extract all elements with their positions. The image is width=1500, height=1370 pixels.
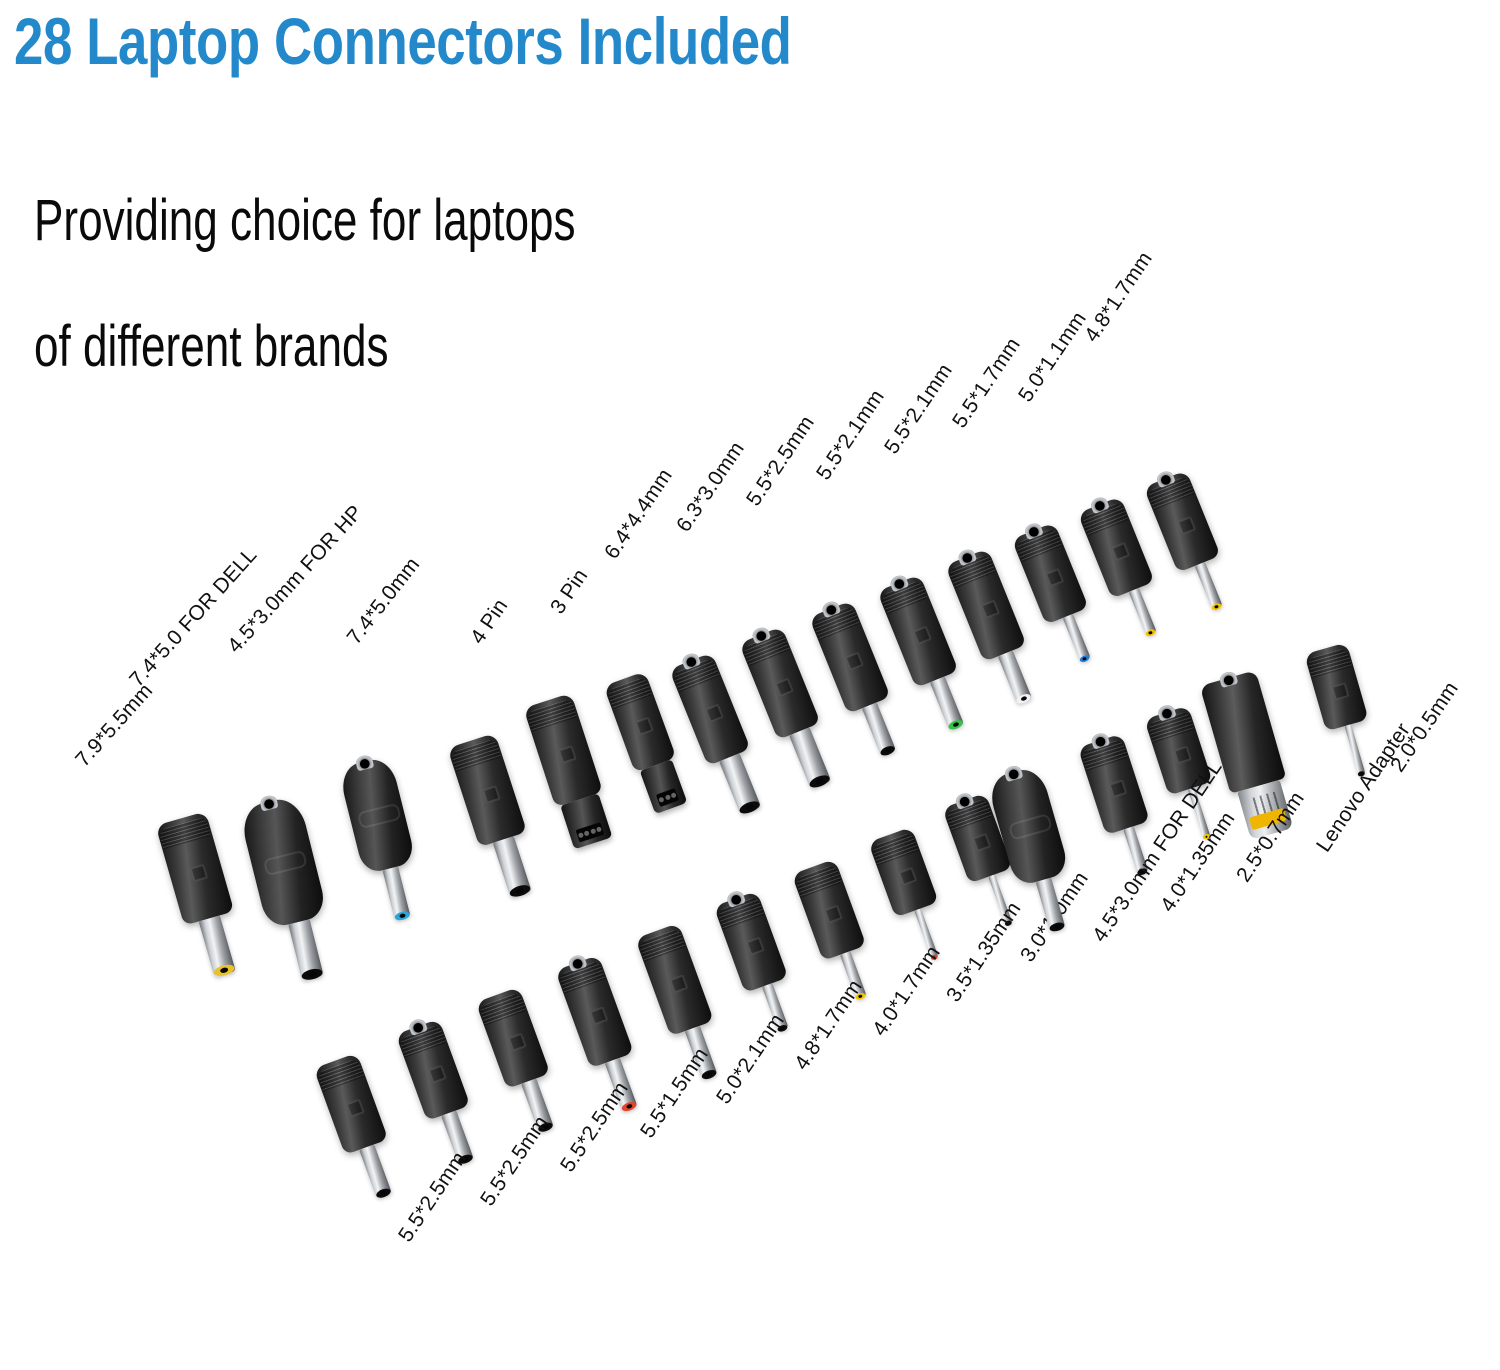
connector-top-6	[1012, 522, 1089, 625]
socket-opening	[956, 547, 977, 566]
connector-barrel	[447, 733, 527, 847]
connector-pin	[289, 919, 324, 981]
pin-tip	[1211, 602, 1223, 611]
connector-top-8	[1144, 470, 1221, 573]
subtitle-line-2: of different brands	[34, 318, 389, 376]
connector-top-3	[809, 600, 891, 714]
pin-tip	[947, 718, 964, 731]
connector-barrel	[1078, 733, 1150, 835]
connector-bottom-7	[792, 859, 867, 961]
connector-bottom-3	[476, 987, 551, 1089]
socket-opening	[1003, 764, 1023, 782]
socket-opening	[354, 754, 374, 772]
connector-label-top-6: 5.5*1.7mm	[948, 334, 1026, 433]
product-infographic: 28 Laptop Connectors Included Providing …	[0, 0, 1500, 1370]
connector-pin	[199, 915, 236, 977]
emboss-mark	[1008, 813, 1053, 841]
emboss-mark	[263, 849, 308, 876]
connector-label-top-4: 5.5*2.1mm	[812, 386, 890, 485]
connector-barrel	[739, 626, 821, 740]
connector-left-4	[447, 733, 527, 847]
connector-pin	[1128, 588, 1156, 637]
pin-tip	[508, 883, 531, 899]
pin-tip	[1145, 628, 1157, 637]
connector-label-left-1: 7.9*5.5mm	[71, 679, 158, 772]
connector-pin	[998, 650, 1032, 704]
connector-pin	[789, 727, 831, 789]
page-title: 28 Laptop Connectors Included	[14, 8, 792, 74]
pin-tip	[738, 799, 761, 816]
connector-barrel	[945, 548, 1027, 662]
connector-label-bottom-1: 5.5*2.5mm	[394, 1148, 472, 1247]
pin-face	[560, 793, 612, 849]
connector-pin	[1194, 562, 1222, 611]
connector-right-5	[1304, 642, 1368, 731]
connector-label-left-6: 3 Pin	[546, 565, 593, 619]
connector-pin	[493, 836, 532, 898]
connector-label-top-2: 6.3*3.0mm	[672, 438, 750, 537]
socket-opening	[750, 625, 771, 644]
connector-pin	[930, 676, 964, 730]
connector-bottom-1	[314, 1053, 389, 1155]
socket-opening	[1088, 495, 1109, 514]
socket-opening	[407, 1017, 428, 1036]
connector-bottom-6	[714, 891, 789, 993]
emboss-mark	[357, 803, 402, 830]
connector-left-6	[604, 671, 677, 773]
connector-barrel	[314, 1053, 389, 1155]
connector-left-2	[238, 794, 328, 929]
pin-tip	[808, 773, 831, 790]
connector-barrel	[669, 652, 751, 766]
connector-pin	[383, 866, 411, 920]
pin-tip	[301, 967, 324, 982]
socket-opening	[566, 953, 587, 972]
connector-pin	[862, 702, 896, 756]
connector-label-top-1: 6.4*4.4mm	[600, 465, 678, 564]
connector-barrel	[156, 811, 235, 925]
connector-label-top-5: 5.5*2.1mm	[880, 360, 958, 459]
pin-tip	[1079, 654, 1091, 663]
connector-label-top-3: 5.5*2.5mm	[742, 412, 820, 511]
pin-holes	[576, 822, 605, 842]
socket-opening	[953, 791, 974, 810]
connector-label-bottom-4: 5.5*1.5mm	[636, 1044, 714, 1143]
connector-label-right-4: Lenovo Adapter	[1312, 719, 1416, 857]
socket-opening	[1089, 731, 1109, 750]
connector-label-left-2: 7.4*5.0 FOR DELL	[125, 543, 262, 692]
pin-tip	[879, 744, 896, 757]
socket-opening	[1154, 469, 1175, 488]
connector-barrel	[868, 827, 939, 918]
connector-left-3	[337, 755, 416, 875]
pin-face	[640, 759, 688, 814]
socket-opening	[888, 573, 909, 592]
pin-holes	[656, 788, 679, 807]
connector-label-top-7: 5.0*1.1mm	[1014, 308, 1092, 407]
connector-right-2	[1078, 733, 1150, 835]
connector-left-1	[156, 811, 235, 925]
connector-label-bottom-3: 5.5*2.5mm	[556, 1078, 634, 1177]
socket-opening	[1218, 670, 1238, 688]
connector-bottom-4	[555, 955, 634, 1068]
connector-barrel	[1304, 642, 1368, 731]
connector-label-bottom-8: 3.5*1.35mm	[942, 898, 1026, 1007]
connector-barrel	[635, 923, 714, 1036]
socket-opening	[258, 794, 278, 812]
connector-top-2	[739, 626, 821, 740]
connector-label-bottom-2: 5.5*2.5mm	[476, 1112, 554, 1211]
connector-barrel	[476, 987, 551, 1089]
connector-barrel	[523, 693, 603, 807]
connector-bottom-2	[396, 1019, 471, 1121]
socket-opening	[1022, 521, 1043, 540]
subtitle-line-1: Providing choice for laptops	[34, 192, 576, 250]
connector-label-top-8: 4.8*1.7mm	[1080, 248, 1158, 347]
connector-top-5	[945, 548, 1027, 662]
connector-barrel	[604, 671, 677, 773]
connector-top-1	[669, 652, 751, 766]
connector-barrel	[555, 955, 634, 1068]
connector-bottom-8	[868, 827, 939, 918]
connector-barrel	[1144, 470, 1221, 573]
connector-bottom-5	[635, 923, 714, 1036]
connector-barrel	[1078, 496, 1155, 599]
connector-pin	[719, 753, 761, 815]
pin-tip	[1015, 692, 1032, 705]
socket-opening	[1156, 703, 1176, 722]
connector-barrel	[714, 891, 789, 993]
pin-tip	[394, 910, 410, 921]
connector-pin	[359, 1144, 392, 1198]
connector-top-4	[877, 574, 959, 688]
connector-label-left-5: 4 Pin	[466, 595, 513, 649]
connector-label-bottom-5: 5.0*2.1mm	[712, 1010, 790, 1109]
pin-tip	[375, 1187, 392, 1200]
socket-opening	[680, 651, 701, 670]
socket-opening	[820, 599, 841, 618]
connector-label-bottom-7: 4.0*1.7mm	[868, 942, 946, 1041]
connector-left-5	[523, 693, 603, 807]
connector-barrel	[877, 574, 959, 688]
connector-barrel	[396, 1019, 471, 1121]
connector-barrel	[809, 600, 891, 714]
connector-label-left-4: 7.4*5.0mm	[343, 553, 426, 649]
connector-barrel	[792, 859, 867, 961]
socket-opening	[725, 889, 746, 908]
pin-tip	[213, 963, 236, 978]
pin-tip	[1049, 921, 1066, 933]
connector-barrel	[1012, 522, 1089, 625]
connector-label-bottom-6: 4.8*1.7mm	[790, 976, 868, 1075]
connector-top-7	[1078, 496, 1155, 599]
connector-pin	[1062, 614, 1090, 663]
